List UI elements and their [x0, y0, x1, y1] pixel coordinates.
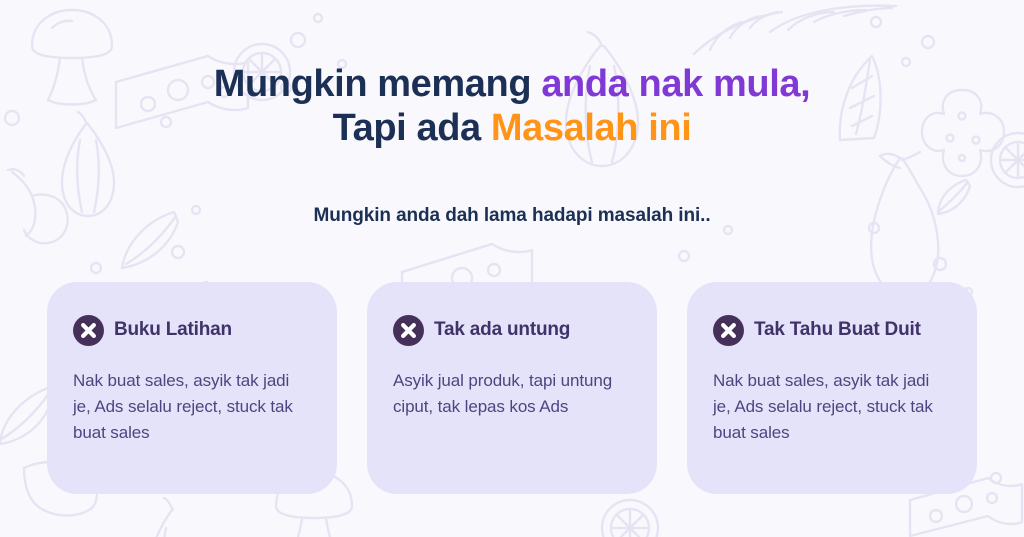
problem-card-body: Asyik jual produk, tapi untung ciput, ta… — [393, 368, 631, 420]
page-subtitle: Mungkin anda dah lama hadapi masalah ini… — [314, 205, 711, 227]
headline-line2-orange: Masalah ini — [491, 107, 691, 149]
x-circle-icon — [713, 315, 744, 346]
x-circle-icon — [73, 315, 104, 346]
problem-card-title: Tak Tahu Buat Duit — [754, 319, 921, 341]
problem-card: Tak Tahu Buat Duit Nak buat sales, asyik… — [687, 282, 977, 494]
problem-card-list: Buku Latihan Nak buat sales, asyik tak j… — [47, 282, 977, 494]
x-circle-icon — [393, 315, 424, 346]
problem-card-header: Tak ada untung — [393, 315, 631, 346]
headline-line-2: Tapi ada Masalah ini — [214, 106, 811, 150]
headline-line-1: Mungkin memang anda nak mula, — [214, 62, 811, 106]
problem-card-header: Tak Tahu Buat Duit — [713, 315, 951, 346]
headline-line1-navy: Mungkin memang — [214, 63, 542, 105]
promo-section: Mungkin memang anda nak mula, Tapi ada M… — [0, 0, 1024, 537]
problem-card: Tak ada untung Asyik jual produk, tapi u… — [367, 282, 657, 494]
problem-card-body: Nak buat sales, asyik tak jadi je, Ads s… — [73, 368, 311, 447]
problem-card-header: Buku Latihan — [73, 315, 311, 346]
headline-line1-purple: anda nak mula, — [541, 63, 810, 105]
problem-card-title: Buku Latihan — [114, 319, 232, 341]
problem-card-body: Nak buat sales, asyik tak jadi je, Ads s… — [713, 368, 951, 447]
problem-card-title: Tak ada untung — [434, 319, 570, 341]
problem-card: Buku Latihan Nak buat sales, asyik tak j… — [47, 282, 337, 494]
page-title: Mungkin memang anda nak mula, Tapi ada M… — [214, 62, 811, 151]
headline-line2-navy: Tapi ada — [333, 107, 491, 149]
